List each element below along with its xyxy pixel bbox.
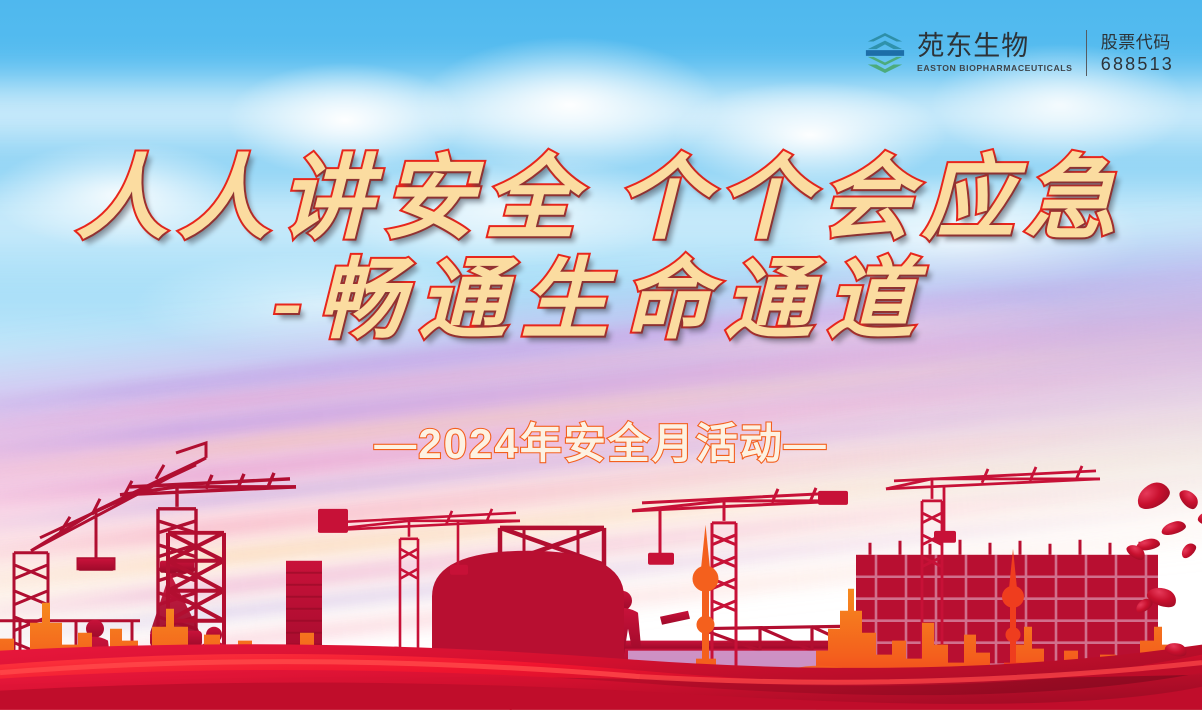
subtitle: —2024年安全月活动— — [0, 410, 1202, 471]
stock-code-label: 股票代码 — [1101, 34, 1174, 51]
headline-line-2: -畅通生命通道 — [0, 253, 1202, 352]
company-name-en: EASTON BIOPHARMACEUTICALS — [917, 63, 1072, 73]
headline-line-1a: 人人讲安全 — [76, 148, 586, 250]
sky-background — [0, 0, 1202, 710]
logo-name-block: 苑东生物 EASTON BIOPHARMACEUTICALS — [917, 33, 1069, 74]
stock-code-value: 688513 — [1101, 55, 1174, 73]
stock-info: 股票代码 688513 — [1101, 34, 1174, 73]
logo-divider — [1086, 30, 1087, 76]
headline-block: 人人讲安全个个会应急 -畅通生命通道 — [0, 150, 1202, 352]
easton-tree-logo-icon — [864, 31, 906, 75]
headline-line-1: 人人讲安全个个会应急 — [0, 150, 1202, 249]
company-name-cn: 苑东生物 — [917, 33, 1069, 61]
safety-month-banner: 苑东生物 EASTON BIOPHARMACEUTICALS 股票代码 6885… — [0, 0, 1202, 710]
company-logo: 苑东生物 EASTON BIOPHARMACEUTICALS 股票代码 6885… — [864, 30, 1174, 76]
headline-line-1b: 个个会应急 — [616, 148, 1126, 250]
